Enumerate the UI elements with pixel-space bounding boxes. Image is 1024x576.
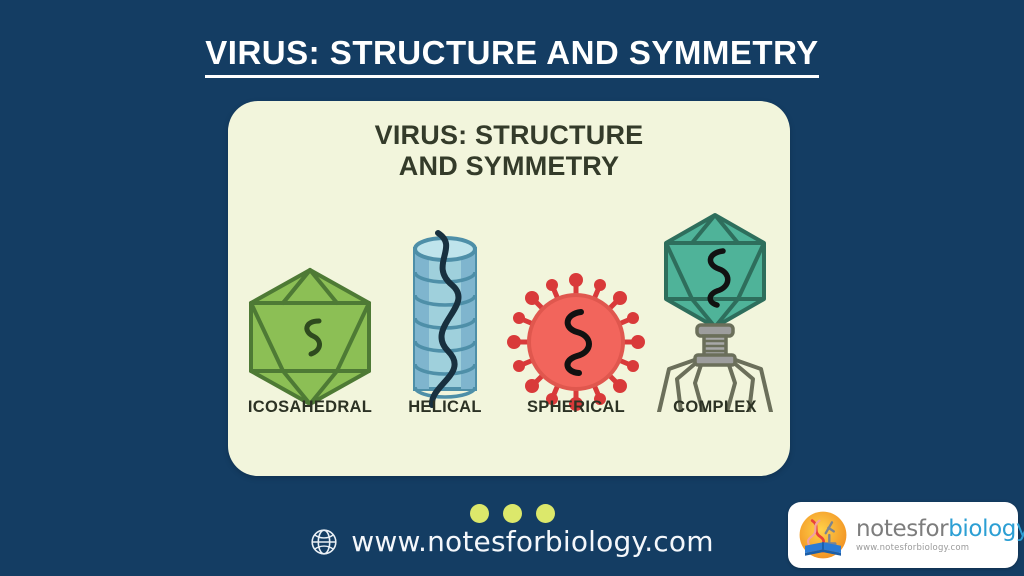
spherical-virus-icon (507, 272, 645, 412)
brand-wordmark-part1: notesfor (856, 516, 948, 542)
bacteriophage-virus-icon (651, 207, 779, 412)
virus-figures-row (228, 197, 790, 412)
brand-logo-badge[interactable]: notesforbiology www.notesforbiology.com (788, 502, 1018, 568)
page-title-text: VIRUS: STRUCTURE AND SYMMETRY (205, 34, 818, 78)
figure-icosahedral (236, 197, 384, 412)
label-spherical: SPHERICAL (506, 398, 646, 417)
helical-virus-icon (390, 227, 500, 412)
figure-helical (380, 197, 510, 412)
label-icosahedral: ICOSAHEDRAL (236, 398, 384, 417)
brand-wordmark-part2: biology (948, 516, 1024, 542)
dot-2 (503, 504, 522, 523)
card-title: VIRUS: STRUCTURE AND SYMMETRY (228, 120, 790, 182)
dot-3 (536, 504, 555, 523)
brand-wordmark: notesforbiology (856, 518, 1024, 541)
card-title-line2: AND SYMMETRY (228, 151, 790, 182)
virus-labels-row: ICOSAHEDRAL HELICAL SPHERICAL COMPLEX (228, 398, 790, 424)
icosahedron-virus-icon (243, 262, 378, 412)
label-helical: HELICAL (380, 398, 510, 417)
label-complex: COMPLEX (640, 398, 790, 417)
page-title: VIRUS: STRUCTURE AND SYMMETRY (0, 34, 1024, 78)
figure-spherical (506, 197, 646, 412)
globe-icon (310, 528, 338, 556)
dot-1 (470, 504, 489, 523)
brand-sub-url: www.notesforbiology.com (856, 544, 1024, 553)
notesforbiology-logo-icon (796, 508, 850, 562)
card-title-line1: VIRUS: STRUCTURE (375, 120, 644, 150)
figure-complex (640, 197, 790, 412)
brand-logo-text: notesforbiology www.notesforbiology.com (856, 518, 1024, 553)
website-url[interactable]: www.notesforbiology.com (351, 525, 713, 558)
infographic-card: VIRUS: STRUCTURE AND SYMMETRY (228, 101, 790, 476)
slide-root: VIRUS: STRUCTURE AND SYMMETRY VIRUS: STR… (0, 0, 1024, 576)
